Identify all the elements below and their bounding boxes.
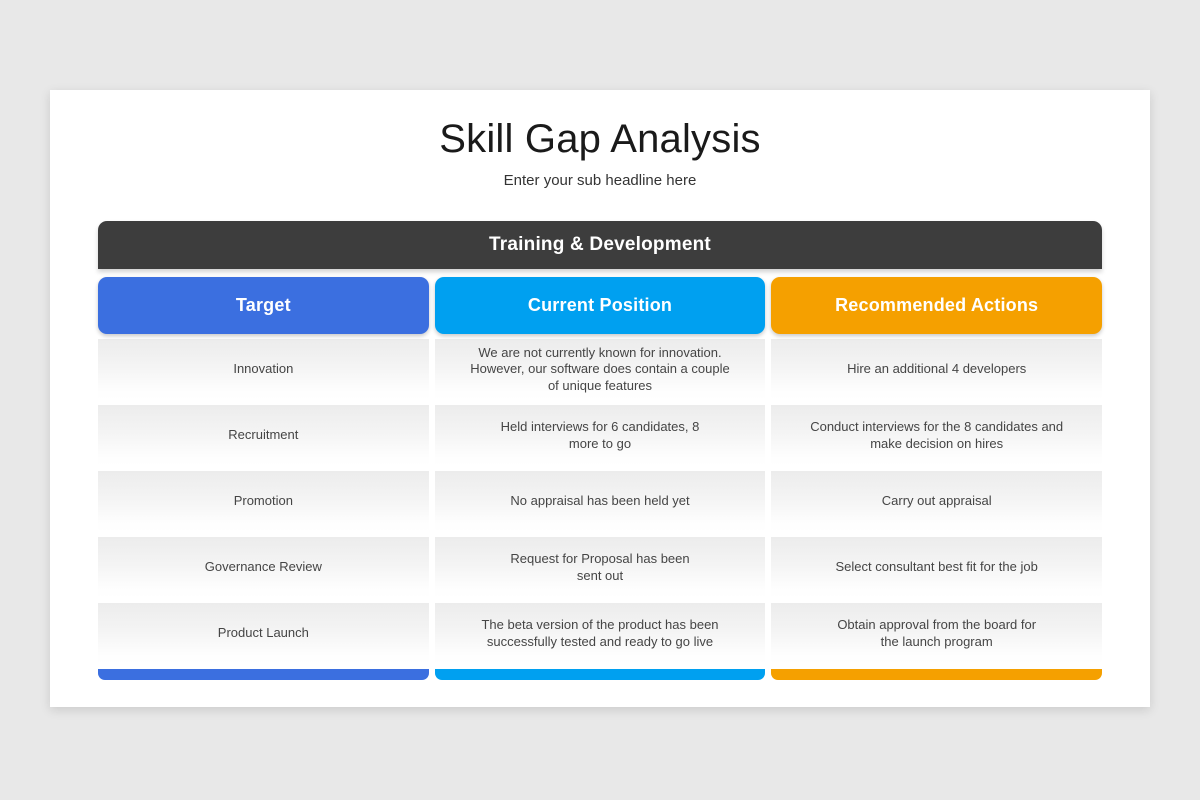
table-cell[interactable]: The beta version of the product has been… bbox=[435, 603, 766, 664]
column-cells-current-position: We are not currently known for innovatio… bbox=[435, 339, 766, 664]
cell-text: Obtain approval from the board for the l… bbox=[837, 617, 1036, 650]
cell-text: Select consultant best fit for the job bbox=[836, 559, 1038, 576]
cell-text: Innovation bbox=[233, 361, 293, 378]
column-header-target[interactable]: Target bbox=[98, 277, 429, 334]
cell-text: Product Launch bbox=[218, 625, 309, 642]
table-cell[interactable]: Recruitment bbox=[98, 405, 429, 466]
table-cell[interactable]: We are not currently known for innovatio… bbox=[435, 339, 766, 400]
table-cell[interactable]: Carry out appraisal bbox=[771, 471, 1102, 532]
table-banner-label: Training & Development bbox=[489, 234, 711, 256]
column-header-label: Recommended Actions bbox=[829, 295, 1044, 316]
column-header-label: Current Position bbox=[522, 295, 678, 316]
table-cell[interactable]: Select consultant best fit for the job bbox=[771, 537, 1102, 598]
cell-text: No appraisal has been held yet bbox=[510, 493, 689, 510]
column-cells-recommended-actions: Hire an additional 4 developers Conduct … bbox=[771, 339, 1102, 664]
page-subtitle: Enter your sub headline here bbox=[50, 172, 1150, 190]
cell-text: Hire an additional 4 developers bbox=[847, 361, 1026, 378]
table-cell[interactable]: Product Launch bbox=[98, 603, 429, 664]
cell-text: Carry out appraisal bbox=[882, 493, 992, 510]
cell-text: We are not currently known for innovatio… bbox=[470, 345, 729, 395]
table-cell[interactable]: Governance Review bbox=[98, 537, 429, 598]
cell-text: Recruitment bbox=[228, 427, 298, 444]
slide-card: Skill Gap Analysis Enter your sub headli… bbox=[50, 90, 1150, 707]
column-target: Target Innovation Recruitment Promotion … bbox=[98, 277, 429, 680]
column-header-recommended-actions[interactable]: Recommended Actions bbox=[771, 277, 1102, 334]
cell-text: Conduct interviews for the 8 candidates … bbox=[810, 419, 1063, 452]
table-cell[interactable]: Promotion bbox=[98, 471, 429, 532]
table-cell[interactable]: Hire an additional 4 developers bbox=[771, 339, 1102, 400]
table-cell[interactable]: Held interviews for 6 candidates, 8 more… bbox=[435, 405, 766, 466]
column-cells-target: Innovation Recruitment Promotion Governa… bbox=[98, 339, 429, 664]
column-recommended-actions: Recommended Actions Hire an additional 4… bbox=[771, 277, 1102, 680]
column-footer-bar-recommended-actions bbox=[771, 669, 1102, 680]
title-block: Skill Gap Analysis Enter your sub headli… bbox=[50, 90, 1150, 190]
column-header-current-position[interactable]: Current Position bbox=[435, 277, 766, 334]
cell-text: Governance Review bbox=[205, 559, 322, 576]
cell-text: The beta version of the product has been… bbox=[481, 617, 718, 650]
column-current-position: Current Position We are not currently kn… bbox=[435, 277, 766, 680]
cell-text: Request for Proposal has been sent out bbox=[510, 551, 689, 584]
column-footer-bar-current-position bbox=[435, 669, 766, 680]
page-title: Skill Gap Analysis bbox=[50, 117, 1150, 162]
skill-gap-table: Training & Development Target Innovation… bbox=[98, 221, 1102, 680]
table-columns: Target Innovation Recruitment Promotion … bbox=[98, 277, 1102, 680]
column-header-label: Target bbox=[230, 295, 297, 316]
cell-text: Held interviews for 6 candidates, 8 more… bbox=[501, 419, 700, 452]
column-footer-bar-target bbox=[98, 669, 429, 680]
table-cell[interactable]: Obtain approval from the board for the l… bbox=[771, 603, 1102, 664]
table-cell[interactable]: Innovation bbox=[98, 339, 429, 400]
table-banner: Training & Development bbox=[98, 221, 1102, 269]
cell-text: Promotion bbox=[234, 493, 293, 510]
table-cell[interactable]: Conduct interviews for the 8 candidates … bbox=[771, 405, 1102, 466]
table-cell[interactable]: Request for Proposal has been sent out bbox=[435, 537, 766, 598]
table-cell[interactable]: No appraisal has been held yet bbox=[435, 471, 766, 532]
